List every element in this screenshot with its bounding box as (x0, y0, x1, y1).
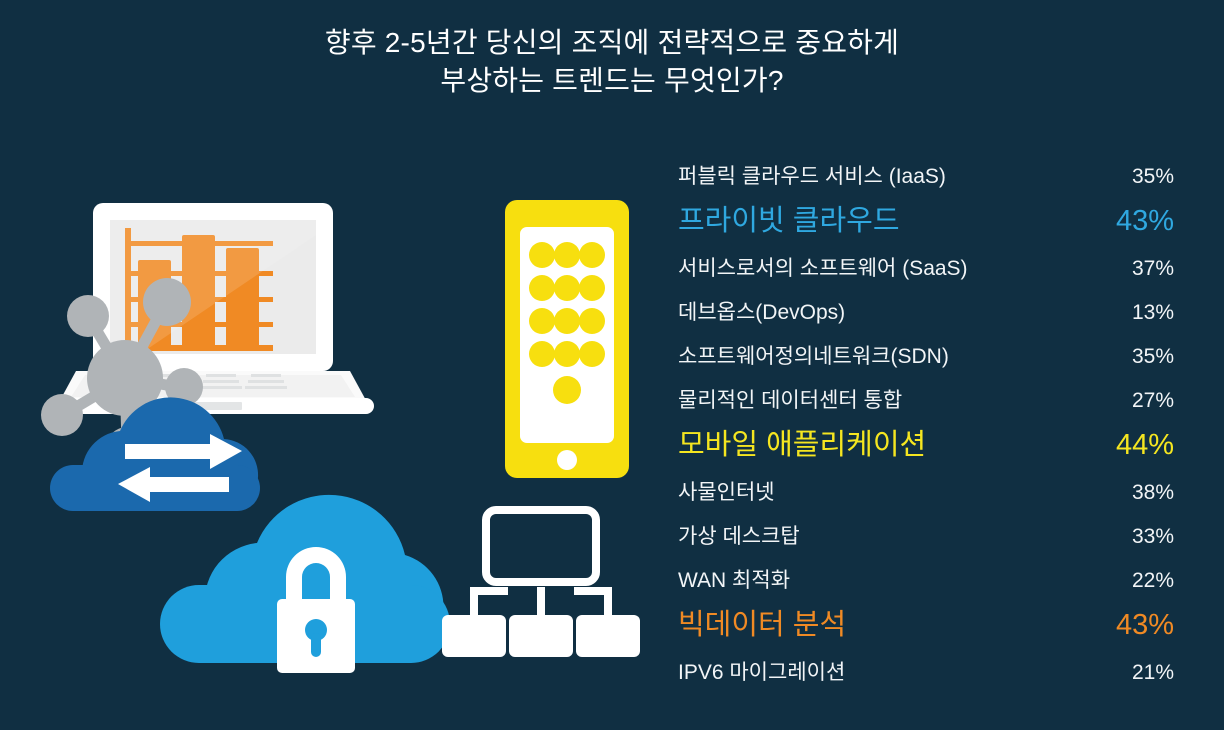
trend-value: 35% (1132, 155, 1174, 199)
trend-label: 가상 데스크탑 (678, 515, 800, 559)
trend-value: 22% (1132, 559, 1174, 603)
trend-label: 퍼블릭 클라우드 서비스 (IaaS) (678, 155, 946, 199)
illustration-group (30, 175, 670, 695)
trend-row[interactable]: 가상 데스크탑33% (678, 515, 1174, 559)
trend-label: 소프트웨어정의네트워크(SDN) (678, 335, 949, 379)
trend-label: 빅데이터 분석 (678, 603, 846, 647)
trend-row[interactable]: WAN 최적화22% (678, 559, 1174, 603)
trend-row[interactable]: 사물인터넷38% (678, 471, 1174, 515)
trend-value: 13% (1132, 291, 1174, 335)
trend-row[interactable]: 빅데이터 분석43% (678, 603, 1174, 651)
trend-label: 모바일 애플리케이션 (678, 423, 926, 467)
trend-row[interactable]: 퍼블릭 클라우드 서비스 (IaaS)35% (678, 155, 1174, 199)
trend-value: 33% (1132, 515, 1174, 559)
page-title-line-2: 부상하는 트렌드는 무엇인가? (0, 62, 1224, 100)
network-topology-icon (442, 510, 640, 657)
trend-label: 프라이빗 클라우드 (678, 199, 900, 243)
page-title-line-1: 향후 2-5년간 당신의 조직에 전략적으로 중요하게 (0, 24, 1224, 62)
trend-value: 35% (1132, 335, 1174, 379)
trend-label: IPV6 마이그레이션 (678, 651, 845, 695)
trend-row[interactable]: IPV6 마이그레이션21% (678, 651, 1174, 695)
trend-label: 서비스로서의 소프트웨어 (SaaS) (678, 247, 968, 291)
trend-row[interactable]: 서비스로서의 소프트웨어 (SaaS)37% (678, 247, 1174, 291)
trend-label: 물리적인 데이터센터 통합 (678, 379, 902, 423)
trend-value: 37% (1132, 247, 1174, 291)
trend-value: 44% (1116, 423, 1174, 467)
trend-value: 21% (1132, 651, 1174, 695)
trend-row[interactable]: 모바일 애플리케이션44% (678, 423, 1174, 471)
trend-value: 43% (1116, 603, 1174, 647)
mobile-phone-icon (505, 200, 629, 478)
trend-value: 27% (1132, 379, 1174, 423)
trend-value: 38% (1132, 471, 1174, 515)
trend-label: 사물인터넷 (678, 471, 775, 515)
cloud-padlock-icon (160, 495, 450, 673)
trend-row[interactable]: 물리적인 데이터센터 통합27% (678, 379, 1174, 423)
trend-value: 43% (1116, 199, 1174, 243)
trend-row[interactable]: 데브옵스(DevOps)13% (678, 291, 1174, 335)
trend-row[interactable]: 프라이빗 클라우드43% (678, 199, 1174, 247)
trend-list: 퍼블릭 클라우드 서비스 (IaaS)35%프라이빗 클라우드43%서비스로서의… (678, 155, 1174, 695)
trend-label: WAN 최적화 (678, 559, 790, 603)
trend-label: 데브옵스(DevOps) (678, 291, 845, 335)
page-title: 향후 2-5년간 당신의 조직에 전략적으로 중요하게 부상하는 트렌드는 무엇… (0, 24, 1224, 100)
trend-row[interactable]: 소프트웨어정의네트워크(SDN)35% (678, 335, 1174, 379)
